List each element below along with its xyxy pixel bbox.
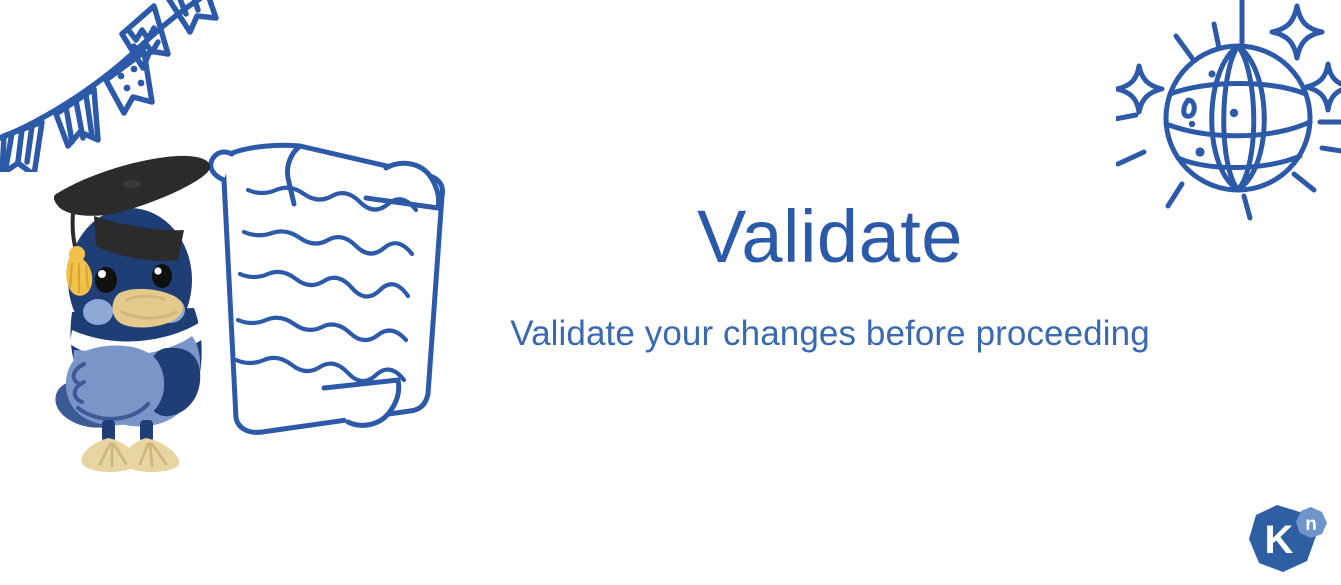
graduate-bird-with-scroll (48, 132, 468, 477)
page-subtitle: Validate your changes before proceeding (470, 314, 1190, 354)
logo-letter-n: n (1305, 514, 1317, 535)
hero-text-block: Validate Validate your changes before pr… (470, 200, 1190, 354)
page-canvas: Validate Validate your changes before pr… (0, 0, 1341, 585)
graduate-bird (54, 156, 210, 472)
disco-ball-decoration (1116, 0, 1341, 232)
logo-letter-k: K (1265, 518, 1294, 562)
page-title: Validate (470, 200, 1190, 274)
kn-logo: K n (1243, 501, 1329, 579)
scroll-document (211, 145, 443, 432)
